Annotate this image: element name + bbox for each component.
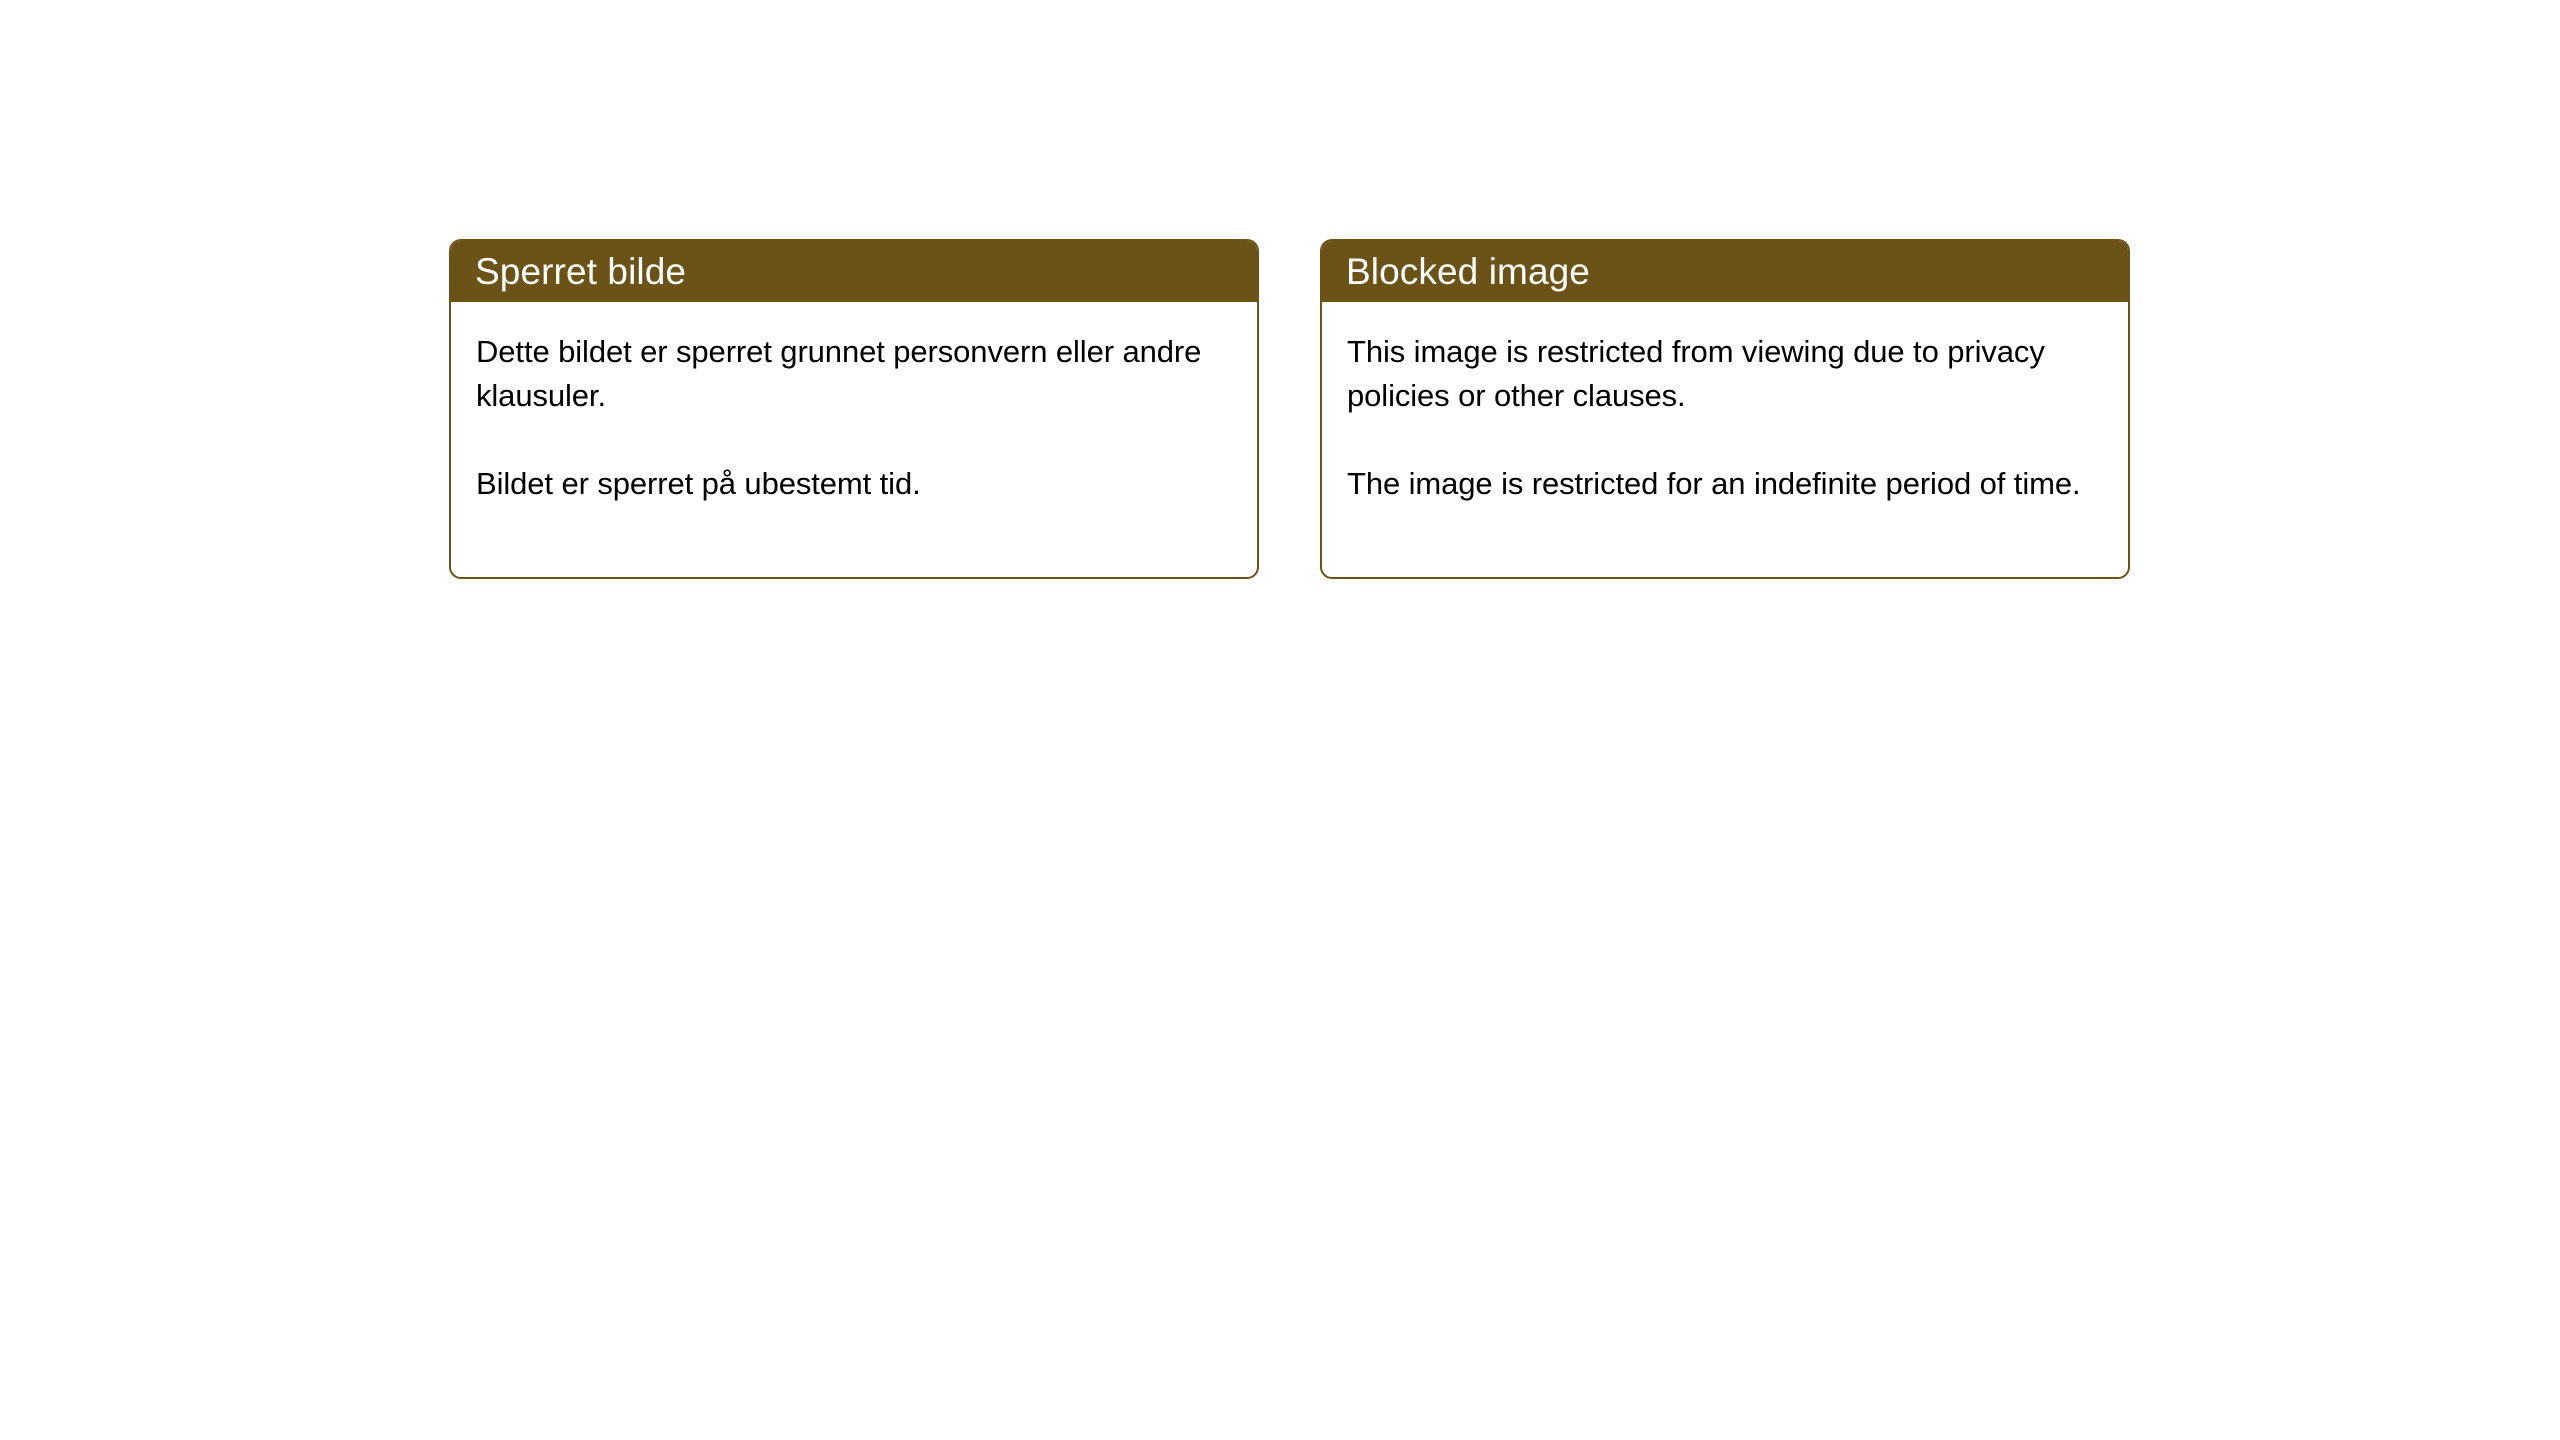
notice-paragraph: The image is restricted for an indefinit…: [1347, 462, 2106, 506]
blocked-image-notice-english: Blocked image This image is restricted f…: [1320, 239, 2130, 579]
notice-paragraph: Dette bildet er sperret grunnet personve…: [476, 330, 1235, 418]
panel-body-english: This image is restricted from viewing du…: [1322, 302, 2128, 506]
panel-body-norwegian: Dette bildet er sperret grunnet personve…: [451, 302, 1257, 506]
notice-paragraph: Bildet er sperret på ubestemt tid.: [476, 462, 1235, 506]
page-root: Sperret bilde Dette bildet er sperret gr…: [0, 0, 2560, 1440]
blocked-image-notice-norwegian: Sperret bilde Dette bildet er sperret gr…: [449, 239, 1259, 579]
panel-title-english: Blocked image: [1346, 253, 1590, 290]
panel-header-english: Blocked image: [1321, 240, 2129, 302]
panel-header-norwegian: Sperret bilde: [450, 240, 1258, 302]
notice-paragraph: This image is restricted from viewing du…: [1347, 330, 2106, 418]
panel-title-norwegian: Sperret bilde: [475, 253, 686, 290]
